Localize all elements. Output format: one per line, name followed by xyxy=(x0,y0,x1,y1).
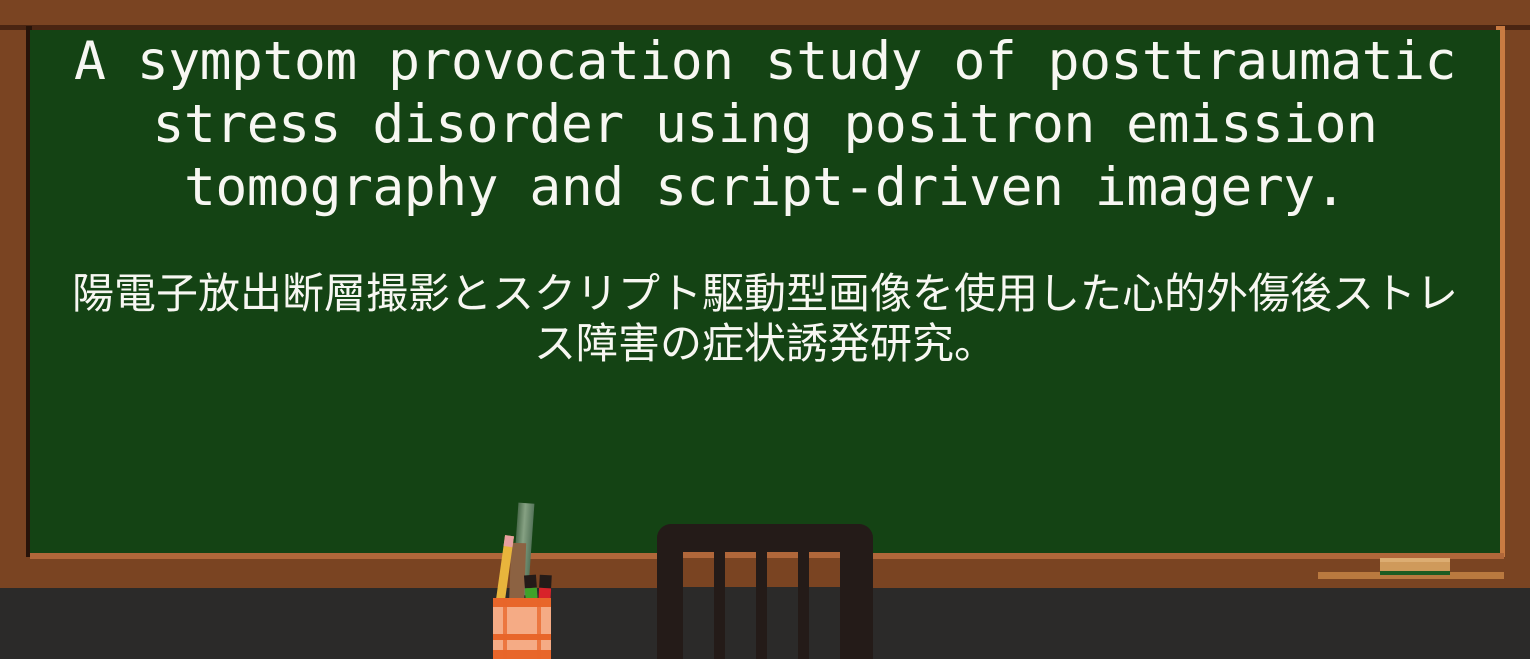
eraser-top-highlight xyxy=(1380,558,1450,562)
chair-slat-gap xyxy=(809,552,840,659)
cup-stripe xyxy=(493,598,551,607)
board-text-block: A symptom provocation study of posttraum… xyxy=(0,30,1530,369)
chair-slat-gap xyxy=(683,552,714,659)
marker-cap xyxy=(539,575,552,589)
cup-stripe xyxy=(493,650,551,659)
cup-stripe xyxy=(493,634,551,640)
chalkboard-scene: A symptom provocation study of posttraum… xyxy=(0,0,1530,659)
cup-vertical-line xyxy=(503,598,507,659)
chair-slat-gap xyxy=(767,552,798,659)
classroom-chair xyxy=(657,524,873,659)
chalk-eraser xyxy=(1380,558,1450,574)
cup-vertical-line xyxy=(537,598,541,659)
gap-floor xyxy=(683,587,714,659)
title-english: A symptom provocation study of posttraum… xyxy=(0,30,1530,219)
gap-ledge-wood xyxy=(683,558,714,587)
gap-ledge-wood xyxy=(809,558,840,587)
chalk-eraser-group xyxy=(1318,558,1504,578)
gap-floor xyxy=(767,587,798,659)
chair-slat-gap xyxy=(725,552,756,659)
pencil-cup-group xyxy=(485,503,555,659)
pencil-cup xyxy=(493,598,551,659)
gap-floor xyxy=(725,587,756,659)
gap-floor xyxy=(809,587,840,659)
gap-ledge-wood xyxy=(767,558,798,587)
title-japanese: 陽電子放出断層撮影とスクリプト駆動型画像を使用した心的外傷後ストレス障害の症状誘… xyxy=(0,269,1530,369)
marker-cap xyxy=(524,575,537,589)
pencil-eraser-tip xyxy=(504,535,514,547)
eraser-felt xyxy=(1380,571,1450,575)
gap-ledge-wood xyxy=(725,558,756,587)
